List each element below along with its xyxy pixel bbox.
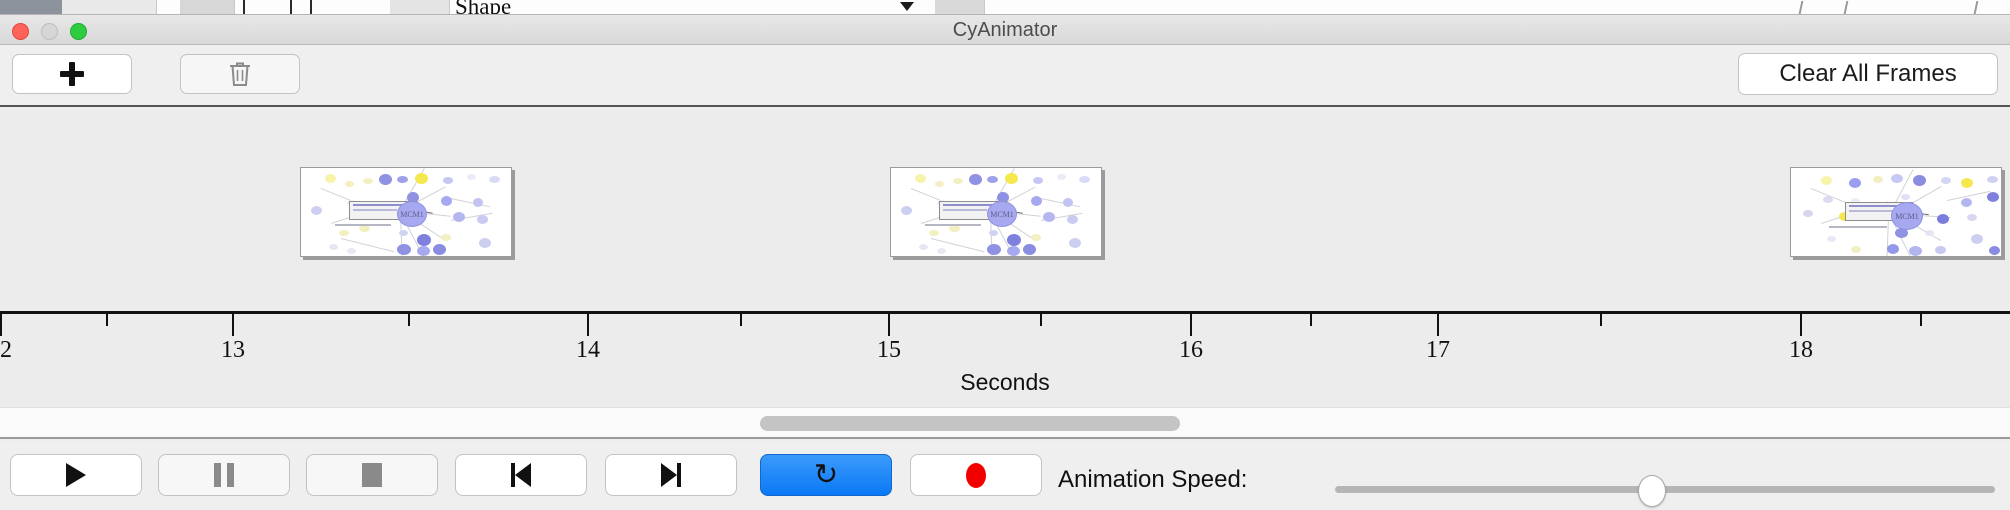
animation-speed-slider[interactable] [1335, 472, 1995, 510]
cyanimator-window: Shape CyAnimator Clear All Frames [0, 0, 2010, 510]
scrollbar-thumb[interactable] [760, 416, 1180, 431]
playback-control-bar: ↻ Animation Speed: [0, 441, 2010, 510]
background-window-tick [290, 0, 292, 14]
window-title: CyAnimator [0, 19, 2010, 42]
ruler-tick-minor [1310, 314, 1312, 326]
ruler-label: 17 [1426, 337, 1450, 364]
hub-node-label: MCM1 [987, 201, 1017, 227]
skip-back-button[interactable] [455, 454, 587, 496]
stop-icon [362, 463, 382, 487]
loop-button[interactable]: ↻ [760, 454, 892, 496]
loop-icon: ↻ [814, 461, 838, 490]
network-thumbnail: MCM1 [891, 168, 1101, 256]
slider-thumb[interactable] [1638, 475, 1666, 507]
background-window-dark-chip [0, 0, 62, 14]
network-thumbnail: MCM1 [1791, 168, 2001, 256]
record-icon [966, 463, 986, 488]
background-window-tick [243, 0, 245, 14]
skip-back-icon [511, 463, 531, 487]
background-window-tick [310, 0, 312, 14]
animation-speed-label: Animation Speed: [1058, 466, 1247, 494]
pause-button[interactable] [158, 454, 290, 496]
ruler-label: 2 [0, 337, 12, 364]
background-window-strip: Shape [0, 0, 2010, 15]
ruler-label: 16 [1179, 337, 1203, 364]
plus-icon [60, 62, 84, 86]
clear-all-frames-label: Clear All Frames [1779, 60, 1956, 88]
timeline-frame-thumbnail[interactable]: MCM1 [300, 167, 512, 257]
delete-frame-button[interactable] [180, 54, 300, 94]
clear-all-frames-button[interactable]: Clear All Frames [1738, 53, 1998, 95]
play-button[interactable] [10, 454, 142, 496]
background-window-chip [180, 0, 235, 15]
pause-icon [214, 463, 234, 487]
ruler-tick-minor [408, 314, 410, 326]
timeline-frame-thumbnail[interactable]: MCM1 [890, 167, 1102, 257]
background-window-chip [935, 0, 985, 15]
ruler-tick-major [0, 314, 2, 336]
timeline-frame-thumbnail[interactable]: MCM1 [1790, 167, 2002, 257]
background-window-chip [390, 0, 450, 15]
ruler-label: 15 [877, 337, 901, 364]
ruler-tick-major [587, 314, 589, 336]
horizontal-scrollbar[interactable] [0, 407, 2010, 439]
ruler-label: 14 [576, 337, 600, 364]
ruler-tick-minor [1040, 314, 1042, 326]
hub-node-label: MCM1 [1891, 202, 1923, 230]
top-toolbar [0, 45, 2010, 107]
background-window-label: Shape [455, 0, 511, 15]
timeline-ruler[interactable]: 2 13 14 15 16 17 18 Seconds [0, 311, 2010, 407]
ruler-baseline [0, 311, 2010, 314]
add-frame-button[interactable] [12, 54, 132, 94]
ruler-tick-major [1437, 314, 1439, 336]
ruler-label: 13 [221, 337, 245, 364]
ruler-tick-minor [1600, 314, 1602, 326]
ruler-tick-major [1800, 314, 1802, 336]
ruler-tick-minor [1920, 314, 1922, 326]
ruler-tick-major [1190, 314, 1192, 336]
play-icon [66, 463, 86, 487]
ruler-tick-minor [106, 314, 108, 326]
hub-node-label: MCM1 [397, 201, 427, 227]
stop-button[interactable] [306, 454, 438, 496]
axis-title: Seconds [0, 369, 2010, 396]
network-thumbnail: MCM1 [301, 168, 511, 256]
skip-forward-icon [661, 463, 681, 487]
background-window-chip [62, 0, 157, 15]
trash-icon [227, 60, 253, 88]
ruler-label: 18 [1789, 337, 1813, 364]
skip-forward-button[interactable] [605, 454, 737, 496]
ruler-tick-minor [740, 314, 742, 326]
background-window-triangle-icon [900, 2, 914, 11]
title-bar: CyAnimator [0, 15, 2010, 45]
record-button[interactable] [910, 454, 1042, 496]
background-window-slant [1844, 1, 1861, 14]
ruler-tick-major [888, 314, 890, 336]
background-window-slant [1799, 1, 1816, 14]
background-window-slant [1974, 1, 1991, 14]
ruler-tick-major [232, 314, 234, 336]
